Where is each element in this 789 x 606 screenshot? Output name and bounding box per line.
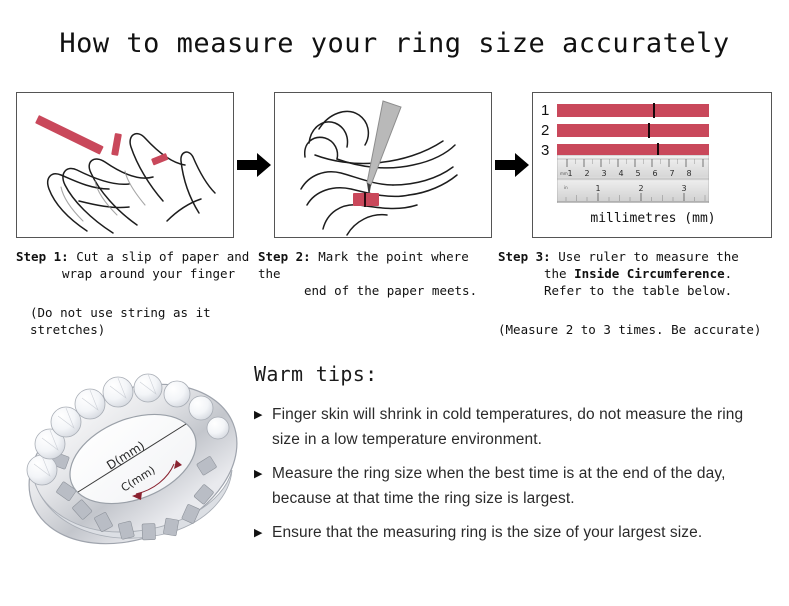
step-2-line-2: end of the paper meets. bbox=[258, 282, 498, 299]
bullet-triangle-icon: ▶ bbox=[254, 520, 272, 545]
strip-row: 1 bbox=[541, 103, 709, 118]
svg-text:2: 2 bbox=[584, 169, 589, 178]
svg-text:5: 5 bbox=[635, 169, 640, 178]
pen-shape bbox=[367, 101, 401, 197]
bullet-triangle-icon: ▶ bbox=[254, 461, 272, 486]
tip-text: Measure the ring size when the best time… bbox=[272, 461, 774, 511]
svg-text:6: 6 bbox=[652, 169, 657, 178]
step-3-caption: Step 3: Use ruler to measure the the Ins… bbox=[498, 248, 776, 338]
svg-text:mm: mm bbox=[560, 171, 568, 176]
step-1-label: Step 1: bbox=[16, 249, 69, 264]
tip-text: Ensure that the measuring ring is the si… bbox=[272, 520, 702, 545]
step-captions: Step 1: Cut a slip of paper and wrap aro… bbox=[16, 248, 776, 338]
step-2-caption: Step 2: Mark the point where the end of … bbox=[258, 248, 498, 338]
tip-item: ▶ Finger skin will shrink in cold temper… bbox=[254, 402, 774, 452]
svg-text:2: 2 bbox=[638, 184, 643, 193]
svg-text:7: 7 bbox=[669, 169, 674, 178]
step-3-line-2-prefix: the bbox=[544, 266, 574, 281]
warm-tips-heading: Warm tips: bbox=[254, 362, 774, 386]
ruler-illustration: 123 456 78 mm 123 in bbox=[557, 155, 709, 203]
step-3-panel: 1 2 3 bbox=[532, 92, 772, 238]
ring-diagram: D(mm) C(mm) bbox=[14, 352, 252, 567]
svg-text:in: in bbox=[564, 185, 568, 190]
strip-bar bbox=[557, 104, 709, 117]
right-arrow-icon bbox=[495, 153, 529, 177]
bullet-triangle-icon: ▶ bbox=[254, 402, 272, 427]
step-3-line-3: Refer to the table below. bbox=[498, 282, 776, 299]
hand-with-paper-slip-illustration bbox=[17, 93, 233, 237]
strip-number: 3 bbox=[541, 143, 557, 158]
tip-item: ▶ Ensure that the measuring ring is the … bbox=[254, 520, 774, 545]
step-3-line-1: Use ruler to measure the bbox=[558, 249, 739, 264]
step-1-line-2: wrap around your finger bbox=[16, 265, 258, 282]
measured-strips: 1 2 3 bbox=[541, 103, 709, 163]
strip-bar bbox=[557, 124, 709, 137]
step-2-panel bbox=[274, 92, 492, 238]
strip-number: 1 bbox=[541, 103, 557, 118]
step-1-note: (Do not use string as it stretches) bbox=[16, 304, 258, 338]
svg-text:3: 3 bbox=[681, 184, 686, 193]
tip-item: ▶ Measure the ring size when the best ti… bbox=[254, 461, 774, 511]
step-arrow-2 bbox=[492, 92, 532, 238]
step-1-caption: Step 1: Cut a slip of paper and wrap aro… bbox=[16, 248, 258, 338]
strip-mark bbox=[653, 103, 655, 118]
svg-text:1: 1 bbox=[567, 169, 572, 178]
right-arrow-icon bbox=[237, 153, 271, 177]
inside-circumference-emphasis: Inside Circumference bbox=[574, 266, 725, 281]
page-title: How to measure your ring size accurately bbox=[0, 28, 789, 59]
strip-row: 2 bbox=[541, 123, 709, 138]
steps-row: 1 2 3 bbox=[16, 92, 773, 238]
svg-text:8: 8 bbox=[686, 169, 691, 178]
step-1-line-1: Cut a slip of paper and bbox=[76, 249, 249, 264]
svg-text:4: 4 bbox=[618, 169, 623, 178]
step-1-panel bbox=[16, 92, 234, 238]
step-3-label: Step 3: bbox=[498, 249, 551, 264]
ruler-caption: millimetres (mm) bbox=[533, 211, 772, 226]
step-arrow-1 bbox=[234, 92, 274, 238]
strip-number: 2 bbox=[541, 123, 557, 138]
step-3-line-2-tail: . bbox=[725, 266, 733, 281]
svg-text:3: 3 bbox=[601, 169, 606, 178]
step-3-line-2: the Inside Circumference. bbox=[498, 265, 776, 282]
svg-text:1: 1 bbox=[595, 184, 600, 193]
tip-text: Finger skin will shrink in cold temperat… bbox=[272, 402, 774, 452]
step-3-note: (Measure 2 to 3 times. Be accurate) bbox=[498, 321, 776, 338]
hands-marking-paper-illustration bbox=[275, 93, 491, 237]
strip-mark bbox=[648, 123, 650, 138]
step-2-label: Step 2: bbox=[258, 249, 311, 264]
warm-tips-section: Warm tips: ▶ Finger skin will shrink in … bbox=[254, 362, 774, 554]
